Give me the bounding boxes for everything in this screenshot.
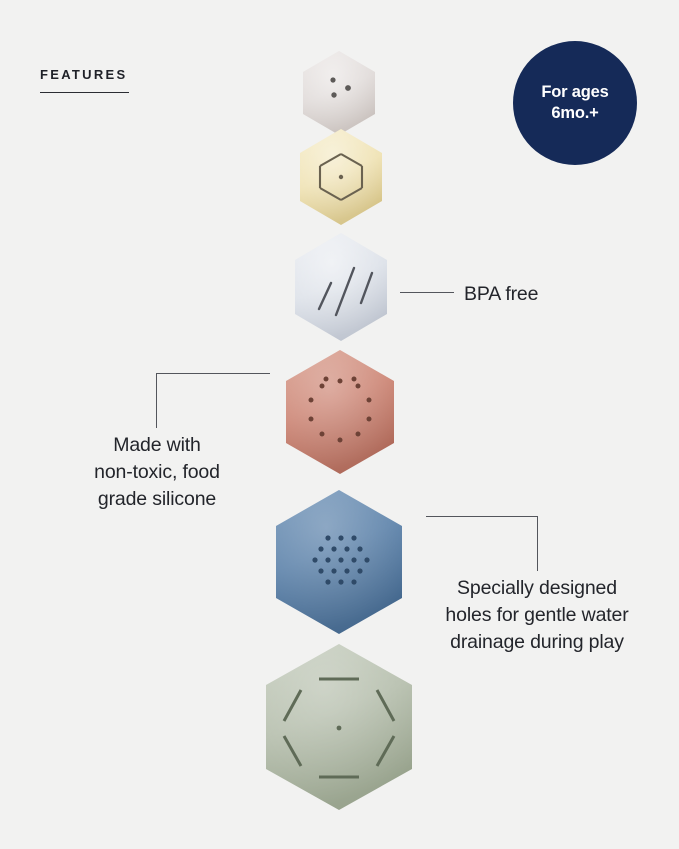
bpa-free-callout: BPA free [464, 281, 538, 308]
terracotta-cup-shape [275, 348, 405, 476]
features-underline [40, 92, 129, 93]
bpa-free-line-1: BPA free [464, 281, 538, 308]
drainage-line-3: drainage during play [445, 629, 628, 656]
bpa-free-leader-line [400, 292, 454, 293]
mauve-cup-shape [295, 49, 383, 137]
blue-cup [263, 488, 415, 636]
terracotta-cup [275, 348, 405, 476]
pale-blue-cup-shape [285, 231, 397, 343]
age-badge-line-2: 6mo.+ [551, 103, 598, 124]
drainage-line-1: Specially designed [445, 575, 628, 602]
silicone-leader-horizontal [156, 373, 270, 374]
pale-blue-cup [285, 231, 397, 343]
blue-cup-shape [263, 488, 415, 636]
yellow-cup-shape [291, 127, 391, 227]
silicone-callout: Made with non-toxic, food grade silicone [94, 432, 220, 513]
silicone-line-1: Made with [94, 432, 220, 459]
drainage-callout: Specially designed holes for gentle wate… [445, 575, 628, 656]
silicone-line-3: grade silicone [94, 486, 220, 513]
features-eyebrow: FEATURES [40, 68, 128, 81]
yellow-cup [291, 127, 391, 227]
drainage-leader-horizontal [426, 516, 538, 517]
sage-cup [251, 642, 427, 812]
drainage-line-2: holes for gentle water [445, 602, 628, 629]
age-badge: For ages 6mo.+ [513, 41, 637, 165]
sage-cup-center-dot [337, 726, 342, 731]
infographic-stage: FEATURES For ages 6mo.+ [0, 0, 679, 849]
drainage-leader-vertical [537, 516, 538, 571]
age-badge-line-1: For ages [541, 82, 608, 103]
sage-cup-shape [251, 642, 427, 812]
mauve-cup [295, 49, 383, 137]
yellow-cup-center-dot [339, 175, 343, 179]
silicone-leader-vertical [156, 373, 157, 428]
silicone-line-2: non-toxic, food [94, 459, 220, 486]
